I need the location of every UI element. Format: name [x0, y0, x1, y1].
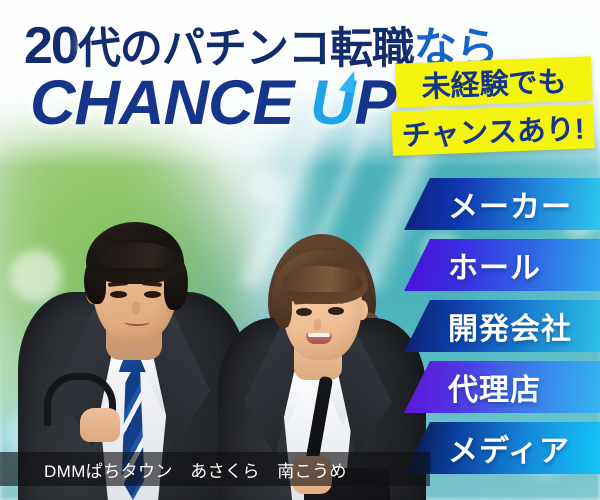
badge-no-experience-label: 未経験でも — [421, 58, 568, 106]
headline-line-1-middle: 代のパチンコ転職 — [78, 25, 414, 73]
category-list: メーカー ホール 開発会社 代理店 メディア — [404, 178, 600, 483]
headline-chance-word: CHANCE — [30, 68, 310, 138]
category-item-development-company[interactable]: 開発会社 — [404, 300, 600, 352]
caption-bar: DMMぱちタウン あさくら 南こうめ — [0, 452, 430, 486]
headline-up-p: P — [355, 68, 396, 138]
category-item-maker[interactable]: メーカー — [404, 178, 600, 230]
headline-line-2: CHANCE UP — [30, 72, 396, 135]
person-male-suit — [18, 170, 248, 500]
people-photo-subjects — [0, 140, 430, 500]
category-item-hall[interactable]: ホール — [404, 239, 600, 291]
male-eye-left — [110, 291, 127, 298]
female-eye-right — [328, 307, 344, 315]
category-item-media[interactable]: メディア — [404, 422, 600, 474]
caption-text: DMMぱちタウン あさくら 南こうめ — [44, 457, 347, 482]
badge-no-experience: 未経験でも — [395, 56, 593, 107]
female-nose — [314, 319, 321, 330]
female-teeth — [308, 333, 330, 337]
male-nose — [132, 302, 140, 314]
recruitment-banner: 20代のパチンコ転職なら CHANCE UP 未経験でも チャンスあり! メーカ… — [0, 0, 600, 500]
category-item-agency[interactable]: 代理店 — [404, 361, 600, 413]
category-item-media-label: メディア — [448, 426, 570, 470]
category-item-hall-label: ホール — [448, 243, 541, 287]
category-item-development-company-label: 開発会社 — [448, 304, 572, 348]
badge-chance-available: チャンスあり! — [391, 104, 595, 156]
headline-number: 20 — [24, 17, 78, 75]
male-eye-right — [144, 291, 161, 298]
badge-chance-available-label: チャンスあり! — [401, 106, 585, 155]
category-item-maker-label: メーカー — [448, 182, 572, 226]
category-item-agency-label: 代理店 — [448, 365, 541, 409]
female-eye-left — [296, 308, 312, 316]
headline-up-u: U — [310, 72, 355, 135]
male-hand — [80, 408, 120, 442]
male-mouth — [124, 318, 150, 326]
